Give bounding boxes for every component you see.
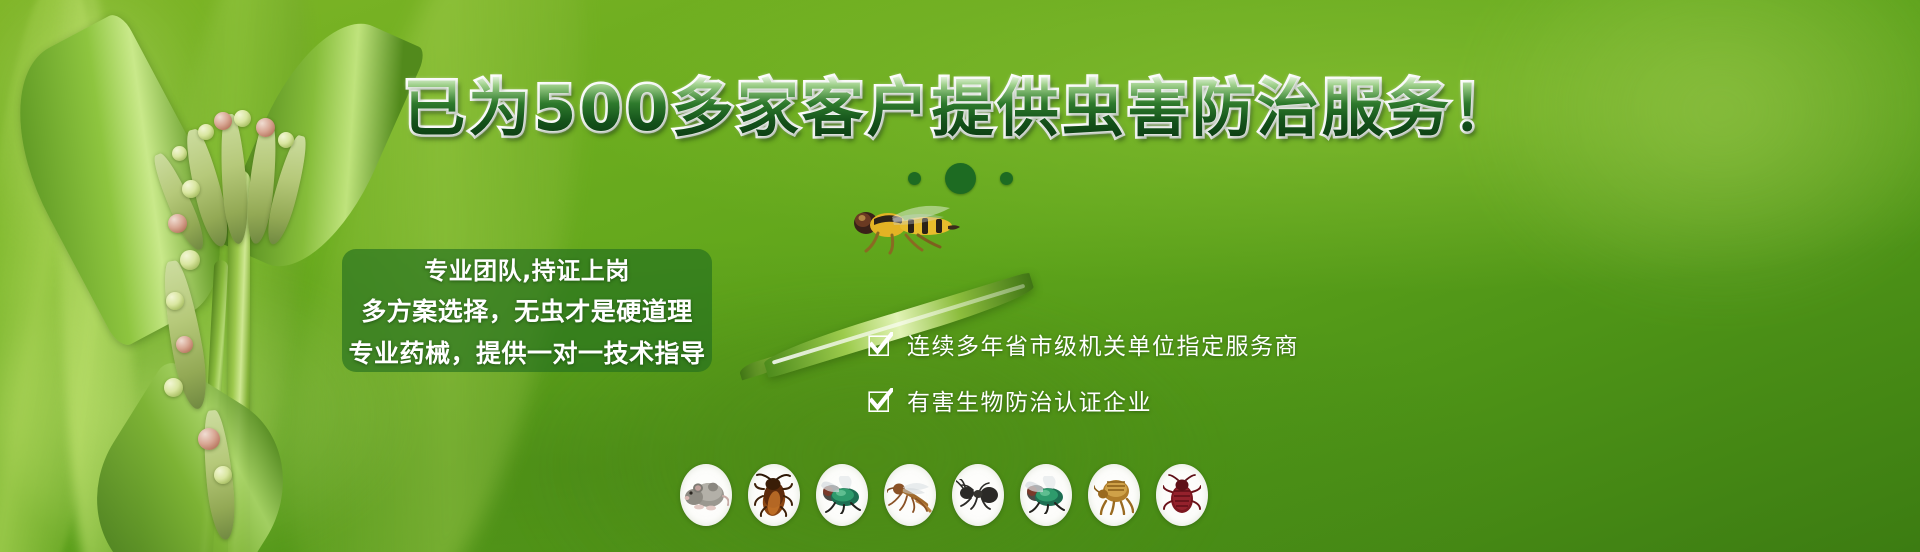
decorative-dot-group (0, 163, 1920, 194)
credential-label: 连续多年省市级机关单位指定服务商 (907, 327, 1299, 361)
feature-line-2: 多方案选择，无虫才是硬道理 (361, 292, 693, 328)
hoverfly-icon (848, 197, 968, 257)
credential-list: 连续多年省市级机关单位指定服务商 有害生物防治认证企业 (868, 327, 1299, 417)
decorative-dot-large-center (945, 163, 976, 194)
credential-item: 有害生物防治认证企业 (868, 383, 1299, 417)
page-title: 已为500多家客户提供虫害防治服务！ (0, 76, 1920, 141)
flea-icon (1088, 464, 1140, 526)
bedbug-icon (1156, 464, 1208, 526)
credential-label: 有害生物防治认证企业 (907, 383, 1152, 417)
rodent-icon (680, 464, 732, 526)
seed-bud (172, 146, 187, 161)
seed-bud (168, 214, 187, 233)
promo-banner: 已为500多家客户提供虫害防治服务！ 已为500多家客户提供虫害防治服务！ 专业… (0, 0, 1920, 552)
seed-bud (198, 428, 220, 450)
feature-box-text-group: 专业团队,持证上岗 多方案选择，无虫才是硬道理 专业药械，提供一对一技术指导 (342, 249, 712, 372)
seed-bud (180, 250, 200, 270)
greenbottle-fly-icon (1020, 464, 1072, 526)
credential-item: 连续多年省市级机关单位指定服务商 (868, 327, 1299, 361)
housefly-icon (816, 464, 868, 526)
seed-bud (214, 466, 232, 484)
feature-line-1: 专业团队,持证上岗 (424, 251, 630, 286)
cockroach-icon (748, 464, 800, 526)
ant-icon (952, 464, 1004, 526)
checkbox-checked-icon (868, 388, 893, 413)
checkbox-checked-icon (868, 332, 893, 357)
feature-line-3: 专业药械，提供一对一技术指导 (348, 334, 705, 370)
seed-bud (164, 378, 183, 397)
decorative-dot-small-right (1000, 172, 1013, 185)
pest-icon-row (680, 464, 1208, 526)
decorative-dot-small-left (908, 172, 921, 185)
seed-bud (176, 336, 193, 353)
mosquito-icon (884, 464, 936, 526)
seed-bud (166, 292, 184, 310)
